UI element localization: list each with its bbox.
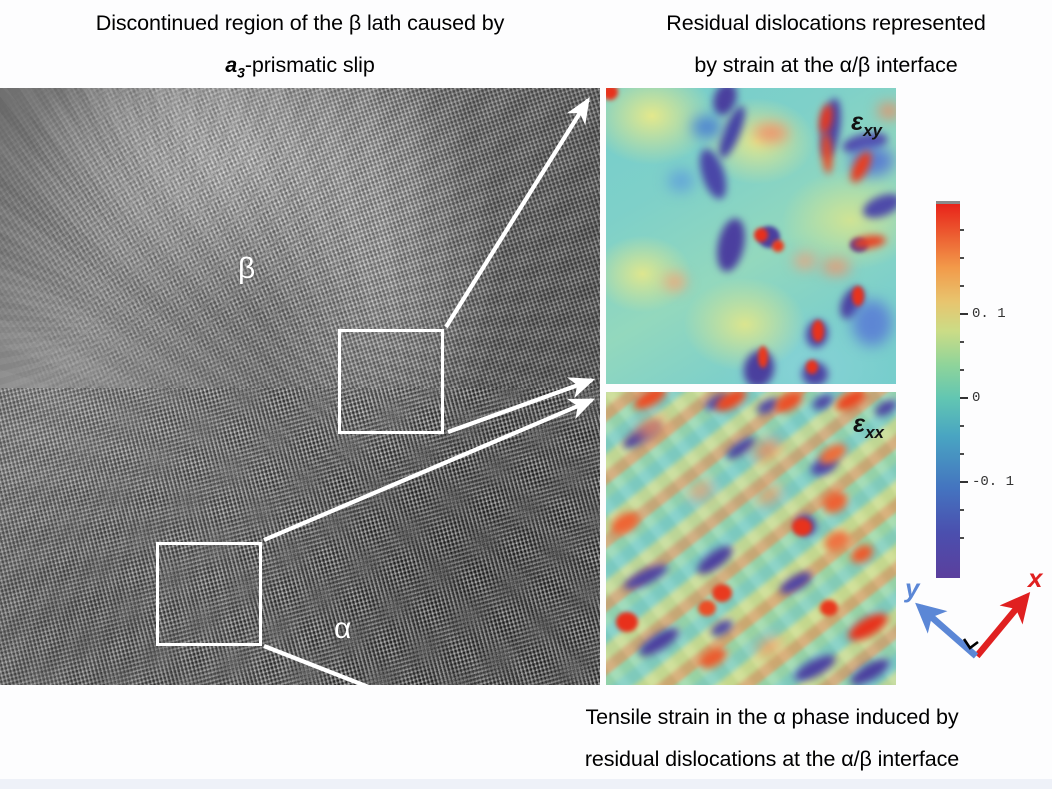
- exy-feature: [822, 260, 850, 274]
- colorbar-tick: [960, 229, 964, 231]
- exy-feature: [794, 254, 816, 268]
- leader-lower-down: [264, 646, 468, 685]
- axis-x-arrow: [977, 597, 1026, 656]
- colorbar-label-0: 0: [972, 391, 980, 405]
- exy-feature: [806, 360, 818, 374]
- exy-feature: [852, 300, 892, 346]
- axis-y-arrow: [920, 607, 976, 656]
- axes-indicator: x y: [900, 555, 1052, 665]
- figure-root: Discontinued region of the β lath caused…: [0, 0, 1052, 789]
- caption-bottom: Tensile strain in the α phase induced by…: [492, 696, 1052, 780]
- epsilon-subscript-exy: xy: [863, 121, 882, 140]
- axis-y-label: y: [905, 575, 919, 601]
- colorbar-tick: [960, 425, 964, 427]
- exy-feature: [852, 286, 864, 306]
- colorbar-tick: [960, 509, 964, 511]
- caption-top-left-line1: Discontinued region of the β lath caused…: [0, 2, 600, 44]
- page-bottom-strip: [0, 779, 1052, 789]
- caption-top-right-line1: Residual dislocations represented: [600, 2, 1052, 44]
- slip-vector-subscript: 3: [237, 64, 245, 80]
- exx-feature: [616, 612, 638, 632]
- caption-top-right-line2: by strain at the α/β interface: [600, 44, 1052, 86]
- exy-feature: [758, 346, 768, 368]
- exx-feature: [698, 600, 716, 616]
- exy-feature: [754, 228, 768, 242]
- colorbar: 0. 1 0 -0. 1: [936, 201, 960, 575]
- leader-upper-to-exy: [448, 380, 592, 432]
- exy-feature: [668, 170, 694, 192]
- colorbar-tick: [960, 453, 964, 455]
- colorbar-tick-major-0p1: [960, 313, 968, 315]
- leader-upper-to-top: [446, 100, 588, 327]
- roi-leader-lines: [0, 88, 600, 685]
- colorbar-label-neg0p1: -0. 1: [972, 475, 1014, 489]
- exy-feature: [664, 274, 686, 290]
- colorbar-tick-major-neg0p1: [960, 481, 968, 483]
- colorbar-tick: [960, 285, 964, 287]
- exx-feature: [792, 518, 812, 536]
- exy-feature: [772, 240, 784, 252]
- colorbar-tick-major-0: [960, 397, 968, 399]
- colorbar-label-0p1: 0. 1: [972, 307, 1006, 321]
- epsilon-symbol-exy: ε: [851, 108, 863, 136]
- exx-feature: [712, 584, 732, 602]
- axis-x-label: x: [1028, 565, 1042, 591]
- exy-feature: [754, 124, 788, 142]
- hrtem-micrograph: β α 5 nm: [0, 88, 600, 685]
- leader-lower-to-exx: [264, 400, 592, 540]
- colorbar-tick: [960, 341, 964, 343]
- colorbar-gradient: [936, 201, 960, 578]
- strain-label-exy: εxy: [851, 110, 882, 139]
- caption-top-right: Residual dislocations represented by str…: [600, 2, 1052, 86]
- caption-top-left: Discontinued region of the β lath caused…: [0, 2, 600, 93]
- colorbar-tick: [960, 257, 964, 259]
- caption-top-left-line2: a3-prismatic slip: [0, 44, 600, 93]
- strain-label-exx: εxx: [853, 412, 884, 441]
- colorbar-tick: [960, 537, 964, 539]
- strain-map-exy: εxy: [606, 88, 896, 384]
- slip-vector-symbol: a: [225, 53, 237, 77]
- exy-feature: [812, 320, 824, 342]
- exy-feature: [692, 116, 722, 138]
- epsilon-subscript-exx: xx: [865, 423, 884, 442]
- caption-bottom-line2: residual dislocations at the α/β interfa…: [492, 738, 1052, 780]
- colorbar-tick: [960, 369, 964, 371]
- slip-vector-rest: -prismatic slip: [245, 53, 375, 77]
- exx-feature: [820, 600, 838, 616]
- epsilon-symbol-exx: ε: [853, 410, 865, 438]
- caption-bottom-line1: Tensile strain in the α phase induced by: [492, 696, 1052, 738]
- strain-map-exx: εxx: [606, 392, 896, 685]
